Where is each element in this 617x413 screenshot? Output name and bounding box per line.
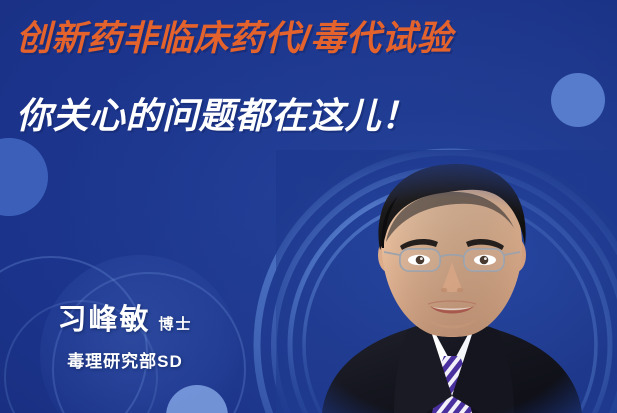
poster-canvas: 创新药非临床药代/毒代试验 你关心的问题都在这儿！ 习峰敏 博士 毒理研究部SD — [0, 0, 617, 413]
speaker-name-row: 习峰敏 博士 — [0, 296, 250, 338]
speaker-degree: 博士 — [159, 313, 193, 334]
speaker-portrait — [276, 150, 617, 413]
speaker-title: 毒理研究部SD — [0, 347, 250, 372]
headline-line-2: 你关心的问题都在这儿！ — [16, 93, 418, 139]
speaker-name: 习峰敏 — [57, 296, 150, 338]
headline-line-1: 创新药非临床药代/毒代试验 — [16, 17, 452, 61]
speaker-block: 习峰敏 博士 毒理研究部SD — [0, 296, 250, 372]
